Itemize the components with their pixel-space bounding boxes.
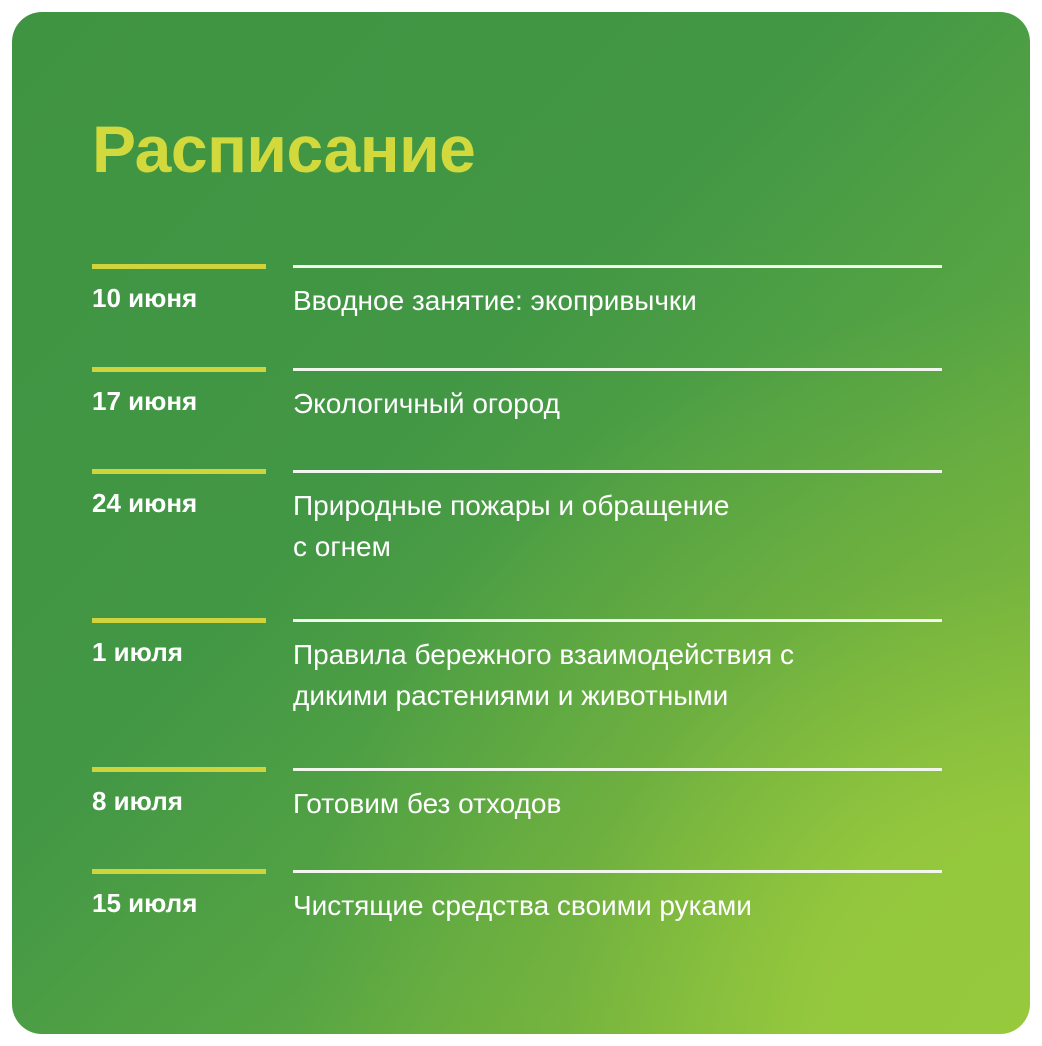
session-title-line: с огнем	[293, 526, 963, 567]
schedule-poster: Расписание 10 июняВводное занятие: экопр…	[12, 12, 1030, 1034]
session-title-line: дикими растениями и животными	[293, 675, 963, 716]
session-title-line: Природные пожары и обращение	[293, 485, 963, 526]
date-divider-rule	[92, 469, 266, 474]
session-date: 17 июня	[92, 387, 282, 417]
session-title-line: Вводное занятие: экопривычки	[293, 280, 963, 321]
session-date: 10 июня	[92, 284, 282, 314]
session-title: Экологичный огород	[293, 383, 963, 424]
session-divider-rule	[293, 470, 942, 473]
session-title-line: Чистящие средства своими руками	[293, 885, 963, 926]
session-date: 1 июля	[92, 638, 282, 668]
session-divider-rule	[293, 870, 942, 873]
session-divider-rule	[293, 265, 942, 268]
page-title: Расписание	[92, 116, 475, 182]
session-title: Природные пожары и обращениес огнем	[293, 485, 963, 568]
date-divider-rule	[92, 367, 266, 372]
session-date: 24 июня	[92, 489, 282, 519]
session-divider-rule	[293, 368, 942, 371]
session-title: Правила бережного взаимодействия сдикими…	[293, 634, 963, 717]
session-title-line: Готовим без отходов	[293, 783, 963, 824]
session-title: Вводное занятие: экопривычки	[293, 280, 963, 321]
date-divider-rule	[92, 869, 266, 874]
session-title: Готовим без отходов	[293, 783, 963, 824]
session-title-line: Правила бережного взаимодействия с	[293, 634, 963, 675]
date-divider-rule	[92, 264, 266, 269]
date-divider-rule	[92, 767, 266, 772]
session-title-line: Экологичный огород	[293, 383, 963, 424]
session-date: 15 июля	[92, 889, 282, 919]
date-divider-rule	[92, 618, 266, 623]
session-date: 8 июля	[92, 787, 282, 817]
session-divider-rule	[293, 768, 942, 771]
session-title: Чистящие средства своими руками	[293, 885, 963, 926]
session-divider-rule	[293, 619, 942, 622]
